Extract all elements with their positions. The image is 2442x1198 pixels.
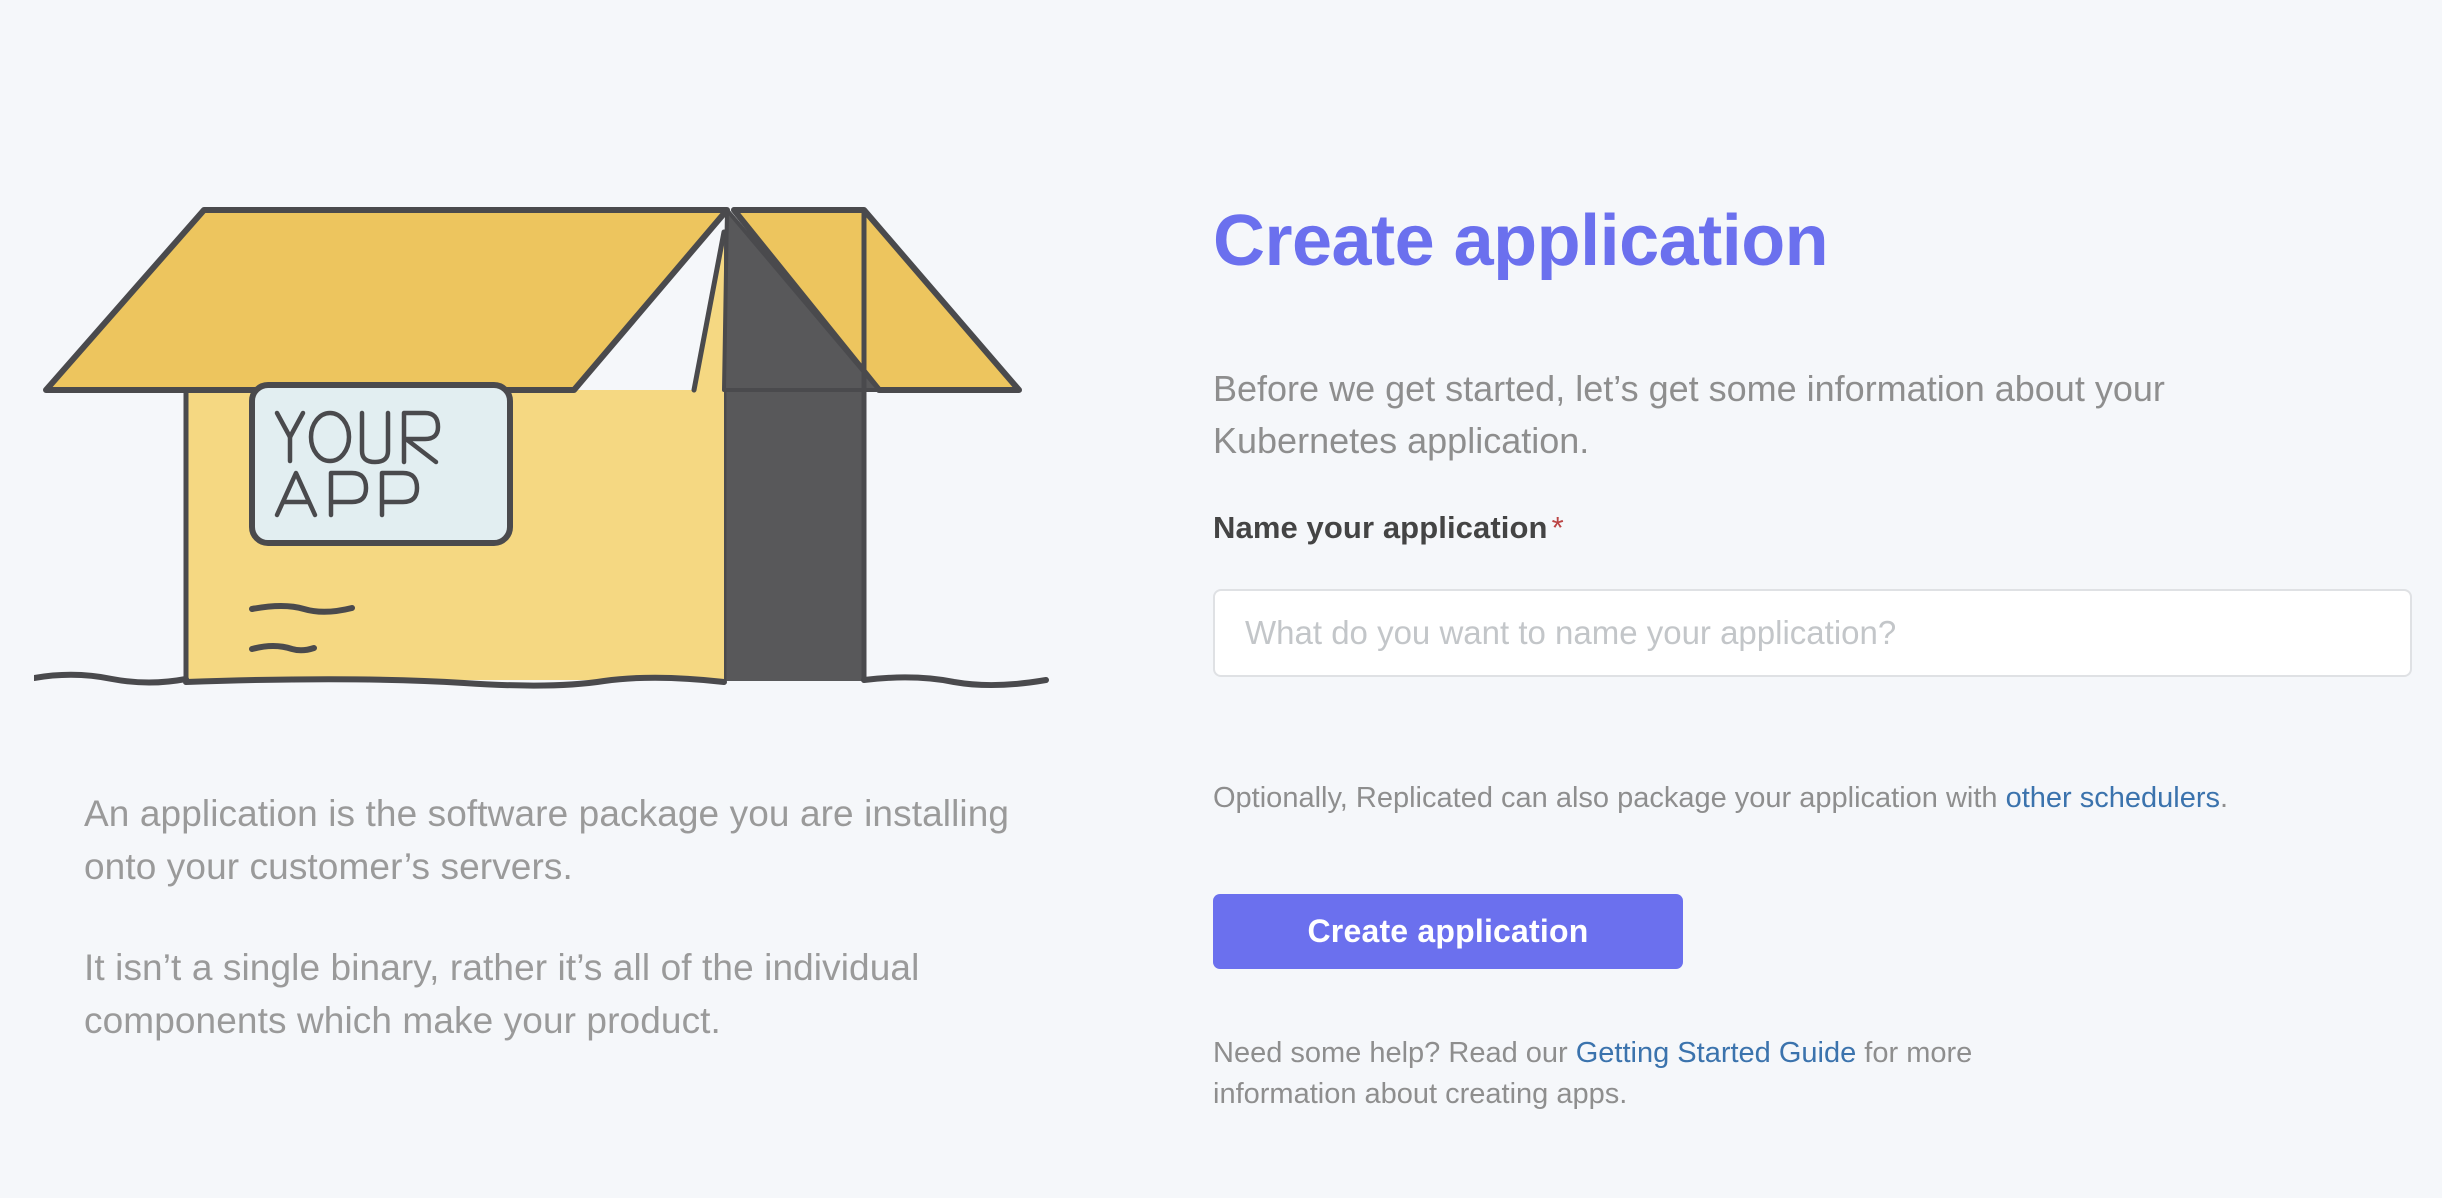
- help-note: Need some help? Read our Getting Started…: [1213, 1033, 2013, 1115]
- name-field-label: Name your application*: [1213, 510, 1564, 546]
- getting-started-guide-link[interactable]: Getting Started Guide: [1576, 1037, 1857, 1069]
- page-title: Create application: [1213, 205, 1828, 277]
- application-name-input[interactable]: [1213, 589, 2412, 677]
- create-application-form: Create application Before we get started…: [1213, 0, 2423, 1198]
- left-info-column: An application is the software package y…: [0, 0, 1130, 1198]
- cardboard-box-illustration: [34, 185, 1064, 730]
- create-application-button[interactable]: Create application: [1213, 894, 1683, 969]
- help-note-prefix: Need some help? Read our: [1213, 1037, 1576, 1069]
- box-label-sticker: [252, 385, 510, 543]
- left-paragraph-1: An application is the software package y…: [84, 788, 1044, 894]
- optional-note-suffix: .: [2220, 782, 2228, 814]
- ground-line-left: [34, 675, 186, 683]
- left-description: An application is the software package y…: [84, 788, 1044, 1048]
- ground-line-right: [864, 677, 1046, 685]
- optional-note-prefix: Optionally, Replicated can also package …: [1213, 782, 2006, 814]
- box-svg: [34, 185, 1064, 730]
- create-application-page: An application is the software package y…: [0, 0, 2442, 1198]
- required-asterisk: *: [1552, 510, 1564, 545]
- left-paragraph-2: It isn’t a single binary, rather it’s al…: [84, 942, 1044, 1048]
- other-schedulers-link[interactable]: other schedulers: [2006, 782, 2220, 814]
- optional-schedulers-note: Optionally, Replicated can also package …: [1213, 778, 2228, 819]
- page-subtitle: Before we get started, let’s get some in…: [1213, 363, 2353, 467]
- box-flap-left: [46, 210, 727, 390]
- name-field-label-text: Name your application: [1213, 510, 1548, 545]
